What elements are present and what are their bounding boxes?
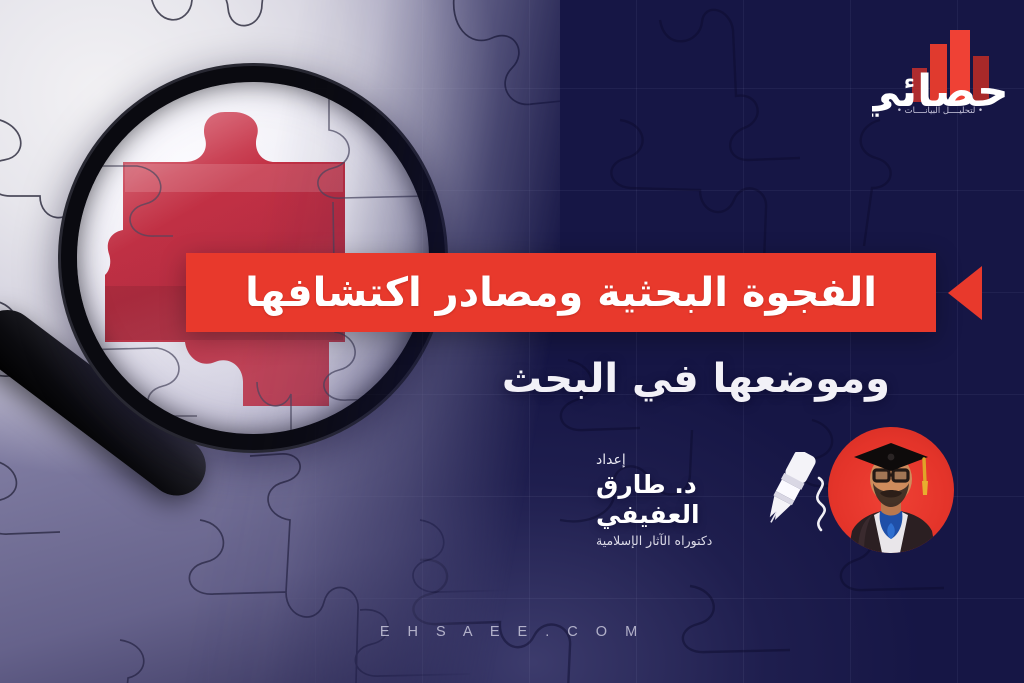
site-watermark: E H S A E E . C O M xyxy=(0,624,1024,640)
author-role: دكتوراه الآثار الإسلامية xyxy=(596,533,788,548)
title-second-line: وموضعها في البحث xyxy=(420,345,890,413)
title-banner: الفجوة البحثية ومصادر اكتشافها xyxy=(186,253,936,332)
avatar xyxy=(828,427,954,553)
poster-canvas: إحصائي • لتحليــــل البيانــــات • الفجو… xyxy=(0,0,1024,683)
brand-tagline: • لتحليــــل البيانــــات • xyxy=(872,106,1008,116)
author-name: د. طارق العفيفي xyxy=(596,470,788,529)
triangle-left-icon xyxy=(948,266,982,320)
magnifier-puzzle-photo xyxy=(0,0,560,683)
author-block: إعداد د. طارق العفيفي دكتوراه الآثار الإ… xyxy=(596,452,788,548)
graduate-portrait-avatar xyxy=(828,427,954,553)
prepared-by-label: إعداد xyxy=(596,452,788,468)
title-banner-text: الفجوة البحثية ومصادر اكتشافها xyxy=(245,273,877,313)
